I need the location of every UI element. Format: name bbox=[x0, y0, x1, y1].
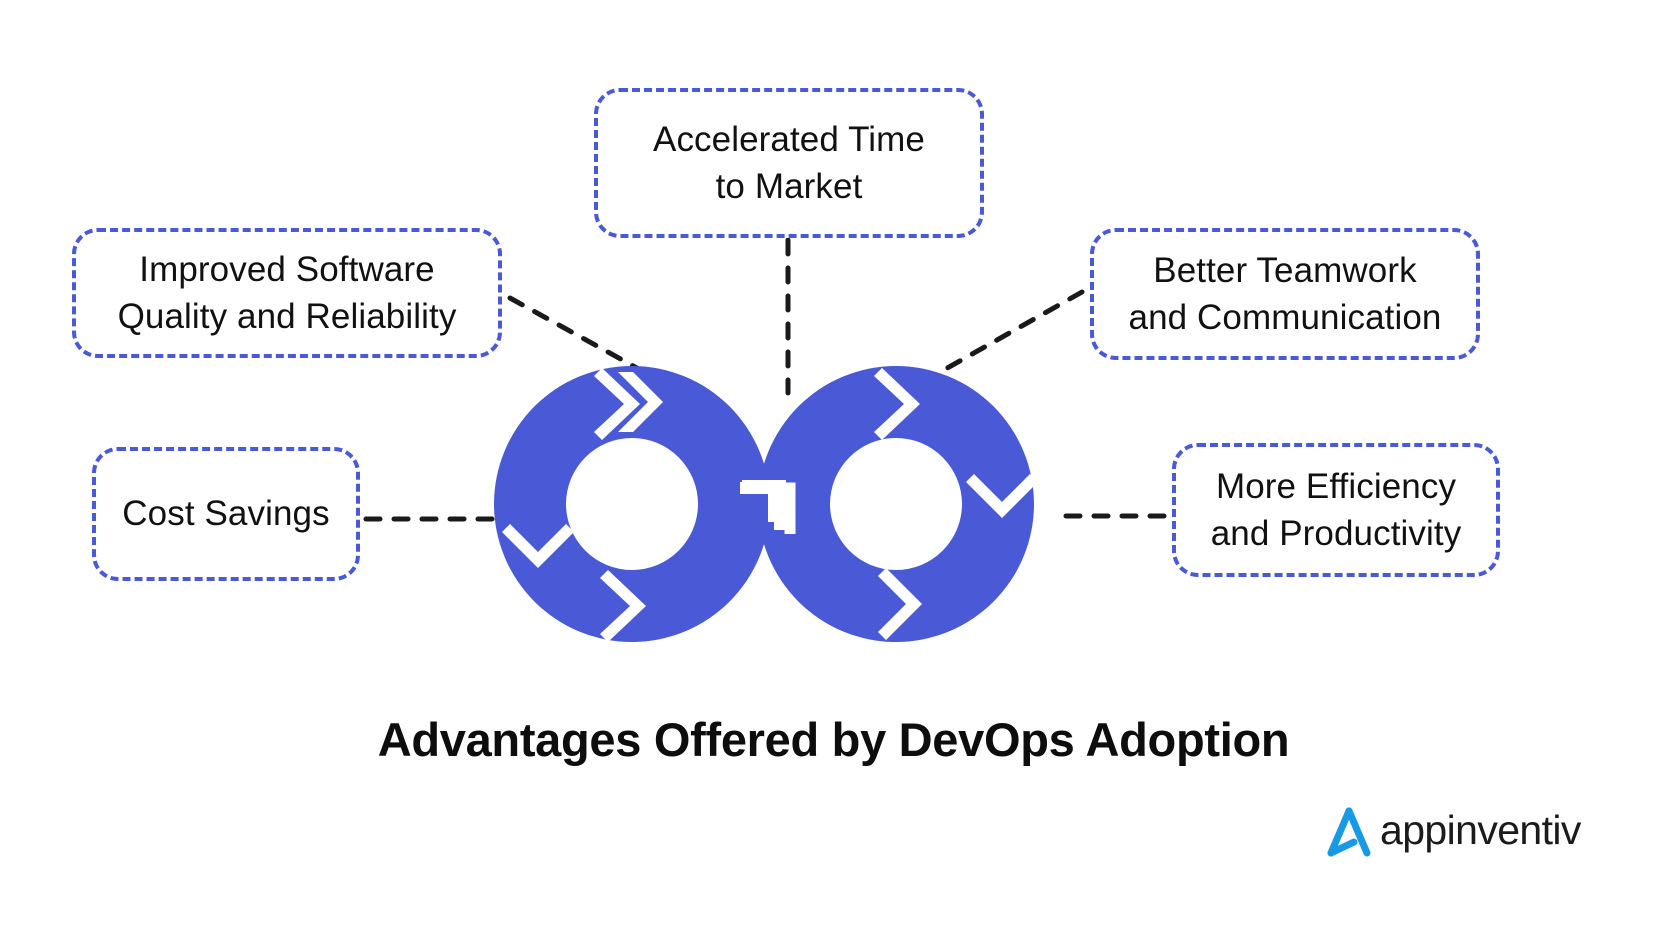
benefit-label: Accelerated Time to Market bbox=[653, 116, 925, 211]
appinventiv-logo-text: appinventiv bbox=[1380, 810, 1581, 854]
devops-infinity-loop-icon bbox=[490, 362, 1038, 646]
benefit-label: More Efficiency and Productivity bbox=[1211, 463, 1462, 558]
benefit-label-line2: Quality and Reliability bbox=[118, 297, 457, 336]
benefit-label-line1: Accelerated Time bbox=[653, 120, 925, 159]
benefit-box-improved-software-quality[interactable]: Improved Software Quality and Reliabilit… bbox=[72, 228, 502, 358]
benefit-label: Cost Savings bbox=[122, 490, 329, 537]
benefit-label-line1: Better Teamwork bbox=[1153, 251, 1416, 290]
loop-right-ring bbox=[758, 366, 1034, 642]
page-title: Advantages Offered by DevOps Adoption bbox=[0, 712, 1667, 767]
benefit-label-line1: More Efficiency bbox=[1216, 467, 1456, 506]
appinventiv-logo[interactable]: appinventiv bbox=[1322, 805, 1581, 859]
benefit-label-line2: and Communication bbox=[1129, 298, 1442, 337]
benefit-label-line1: Improved Software bbox=[139, 250, 434, 289]
appinventiv-a-mark-icon bbox=[1322, 805, 1376, 859]
benefit-box-cost-savings[interactable]: Cost Savings bbox=[92, 447, 360, 581]
benefit-box-more-efficiency[interactable]: More Efficiency and Productivity bbox=[1172, 443, 1500, 577]
benefit-label: Improved Software Quality and Reliabilit… bbox=[118, 246, 457, 341]
benefit-label-line2: to Market bbox=[716, 167, 863, 206]
loop-left-ring bbox=[494, 366, 770, 642]
benefit-label: Better Teamwork and Communication bbox=[1129, 247, 1442, 342]
infographic-canvas: Accelerated Time to Market Improved Soft… bbox=[0, 0, 1667, 947]
benefit-box-accelerated-time-to-market[interactable]: Accelerated Time to Market bbox=[594, 88, 984, 238]
benefit-box-better-teamwork[interactable]: Better Teamwork and Communication bbox=[1090, 228, 1480, 360]
benefit-label-line2: and Productivity bbox=[1211, 514, 1462, 553]
